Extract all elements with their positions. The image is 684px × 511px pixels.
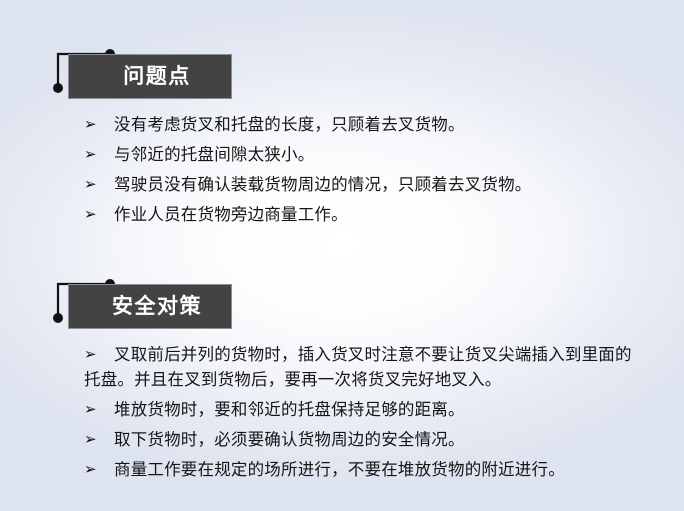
list-item-text: 堆放货物时，要和邻近的托盘保持足够的距离。 [108,397,644,422]
bullet-arrow-icon: ➢ [84,142,108,167]
list-item: ➢ 取下货物时，必须要确认货物周边的安全情况。 [84,427,644,452]
slide-canvas: 问题点 ➢ 没有考虑货叉和托盘的长度，只顾着去叉货物。 ➢ 与邻近的托盘间隙太狭… [0,0,684,511]
list-item-text: 取下货物时，必须要确认货物周边的安全情况。 [108,427,644,452]
list-item-text: 没有考虑货叉和托盘的长度，只顾着去叉货物。 [108,112,644,137]
heading-label-countermeasures: 安全对策 [98,296,202,317]
list-item-text: 叉取前后并列的货物时，插入货叉时注意不要让货叉尖端插入到里面的托盘。并且在叉到货… [84,342,644,392]
list-item: ➢ 堆放货物时，要和邻近的托盘保持足够的距离。 [84,397,644,422]
list-item-text: 商量工作要在规定的场所进行，不要在堆放货物的附近进行。 [108,457,644,482]
bullet-arrow-icon: ➢ [84,202,108,227]
list-item-text: 与邻近的托盘间隙太狭小。 [108,142,644,167]
bullet-arrow-icon: ➢ [84,457,108,482]
bullet-arrow-icon: ➢ [84,112,108,137]
list-item-text: 作业人员在货物旁边商量工作。 [108,202,644,227]
bullet-list-countermeasures: ➢ 叉取前后并列的货物时，插入货叉时注意不要让货叉尖端插入到里面的托盘。并且在叉… [84,342,644,487]
list-item: ➢ 驾驶员没有确认装载货物周边的情况，只顾着去叉货物。 [84,172,644,197]
bullet-list-problems: ➢ 没有考虑货叉和托盘的长度，只顾着去叉货物。 ➢ 与邻近的托盘间隙太狭小。 ➢… [84,112,644,232]
heading-label-problems: 问题点 [109,66,191,87]
list-item: ➢ 商量工作要在规定的场所进行，不要在堆放货物的附近进行。 [84,457,644,482]
list-item: ➢ 叉取前后并列的货物时，插入货叉时注意不要让货叉尖端插入到里面的托盘。并且在叉… [84,342,644,392]
bracket-dot-bottom [53,83,63,93]
bracket-dot-bottom [53,313,63,323]
heading-chip-countermeasures: 安全对策 [68,284,232,329]
bullet-arrow-icon: ➢ [84,172,108,197]
list-item: ➢ 作业人员在货物旁边商量工作。 [84,202,644,227]
list-item-text: 驾驶员没有确认装载货物周边的情况，只顾着去叉货物。 [108,172,644,197]
list-item: ➢ 没有考虑货叉和托盘的长度，只顾着去叉货物。 [84,112,644,137]
bullet-arrow-icon: ➢ [84,397,108,422]
heading-chip-problems: 问题点 [68,54,232,99]
list-item: ➢ 与邻近的托盘间隙太狭小。 [84,142,644,167]
bullet-arrow-icon: ➢ [84,427,108,452]
